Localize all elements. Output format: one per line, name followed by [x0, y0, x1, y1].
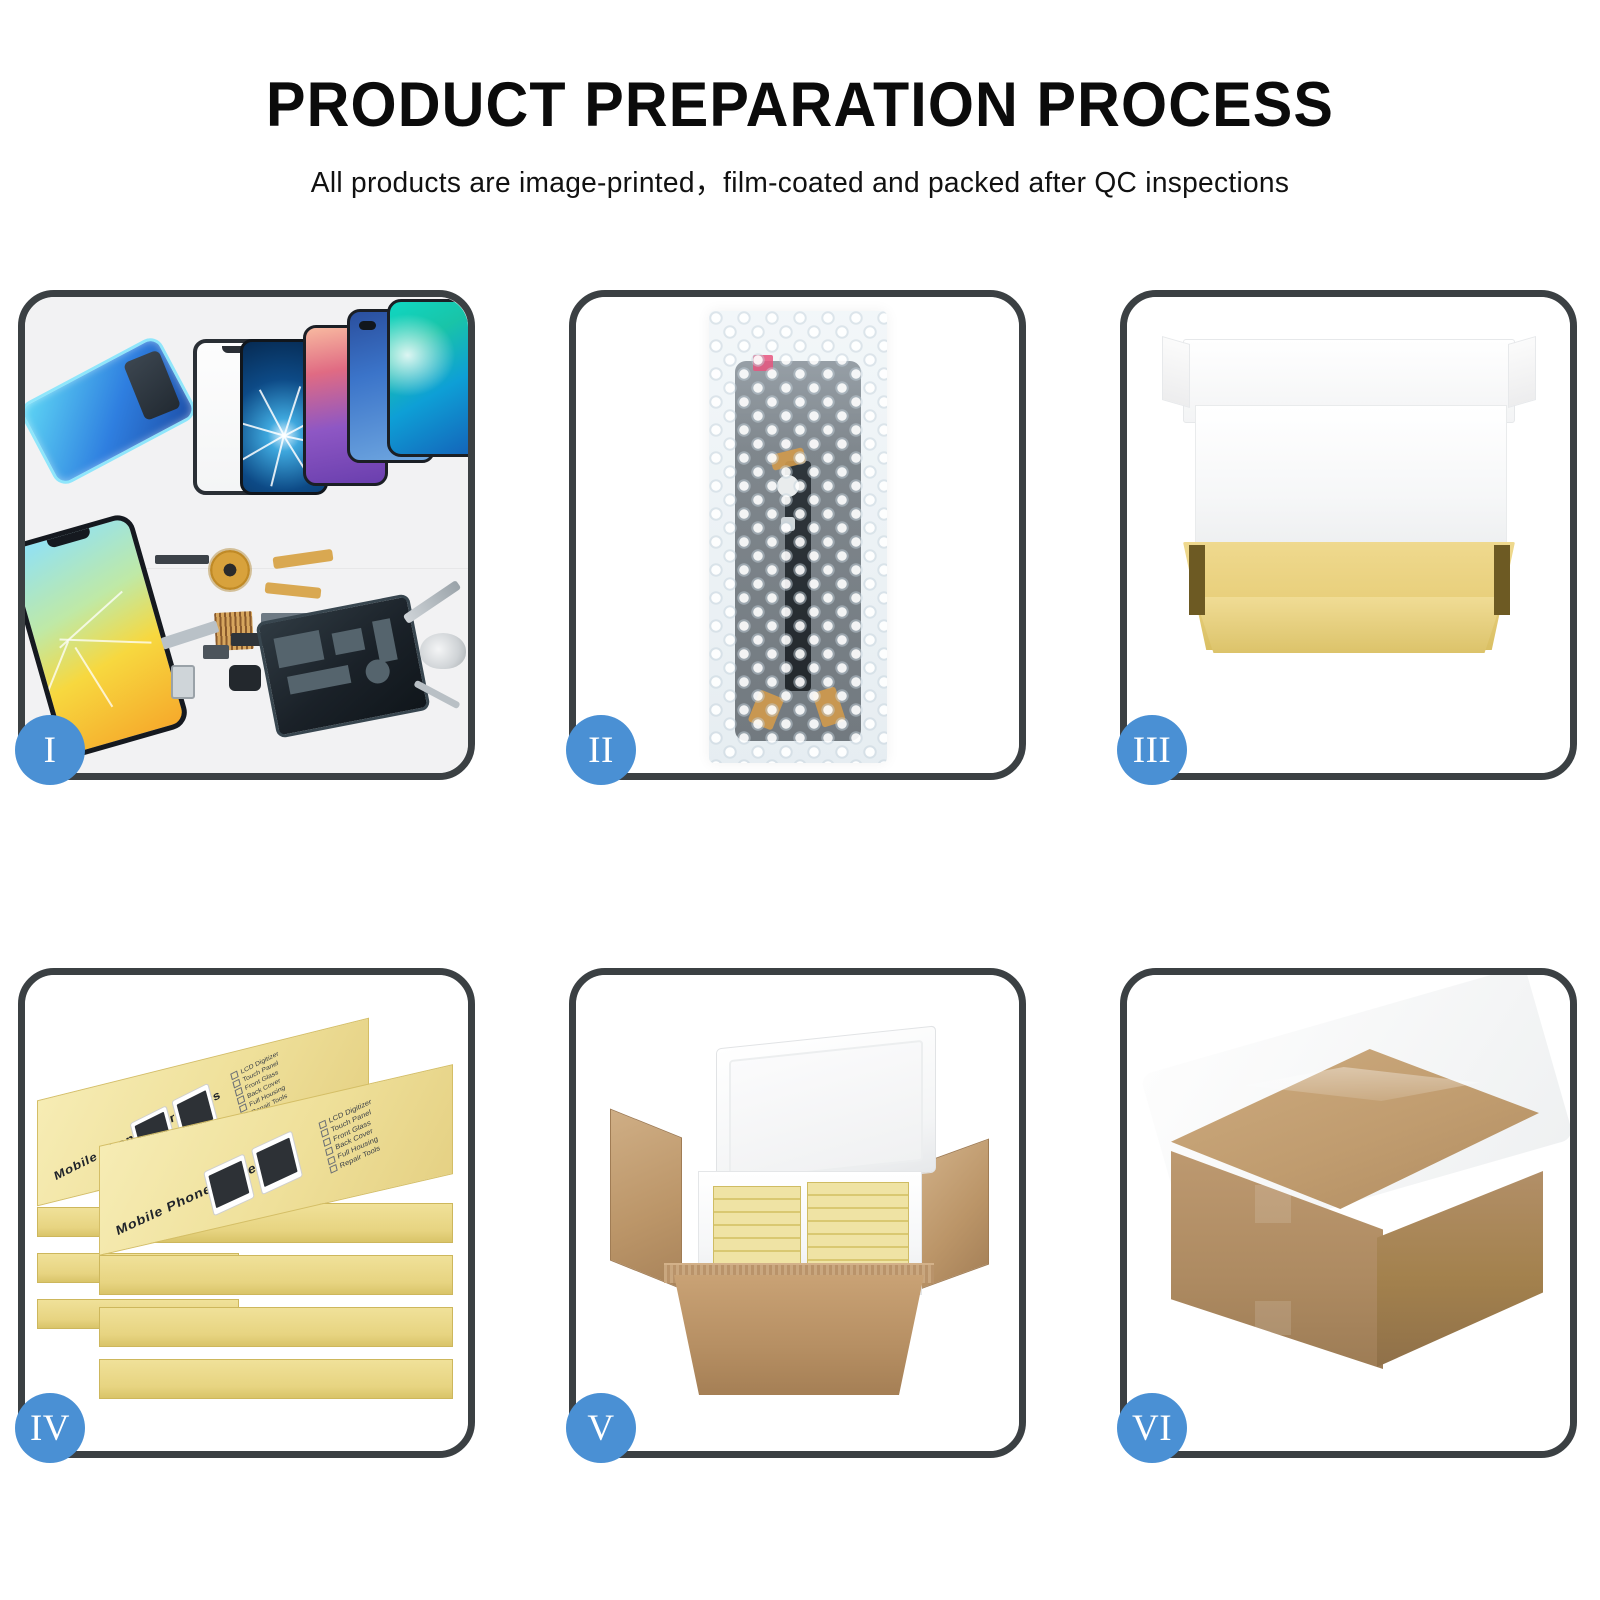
step-panel-1[interactable]: I	[18, 290, 475, 780]
step-6-image	[1127, 975, 1570, 1451]
retail-box-checklist-front: LCD Digitizer Touch Panel Front Glass Ba…	[318, 1097, 383, 1175]
sim-tray	[171, 665, 195, 699]
step-1-image	[25, 297, 468, 773]
step-panel-2[interactable]: II	[569, 290, 1026, 780]
earpiece-mesh	[155, 555, 209, 564]
process-steps-grid: I II	[18, 290, 1578, 1458]
step-badge-2: II	[566, 715, 636, 785]
battery-connector	[203, 645, 229, 659]
step-badge-6: VI	[1117, 1393, 1187, 1463]
step-panel-4[interactable]: Mobile Phone Spare Parts LCD Digitizer T…	[18, 968, 475, 1458]
box-corner-left	[1189, 545, 1205, 615]
step-badge-1: I	[15, 715, 85, 785]
page-header: PRODUCT PREPARATION PROCESS All products…	[0, 0, 1600, 201]
retail-box-front-2	[99, 1307, 453, 1347]
cleaning-brush	[420, 633, 466, 669]
step-5-image	[576, 975, 1019, 1451]
wireless-charging-coil	[210, 550, 250, 590]
retail-box-front-1	[99, 1359, 453, 1399]
bubble-wrap-pouch	[709, 311, 887, 763]
page-title: PRODUCT PREPARATION PROCESS	[48, 74, 1552, 137]
white-foam-sheet	[1195, 405, 1507, 557]
step-badge-3: III	[1117, 715, 1187, 785]
step-panel-3[interactable]: III	[1120, 290, 1577, 780]
step-2-image	[576, 297, 1019, 773]
teal-swirl-phone	[387, 299, 468, 457]
page-subtitle: All products are image-printed，film-coat…	[24, 159, 1576, 201]
step-badge-5: V	[566, 1393, 636, 1463]
step-panel-5[interactable]: V	[569, 968, 1026, 1458]
step-panel-6[interactable]: VI	[1120, 968, 1577, 1458]
retail-box-front-3	[99, 1255, 453, 1295]
step-4-image: Mobile Phone Spare Parts LCD Digitizer T…	[25, 975, 468, 1451]
kraft-box-front	[1195, 597, 1503, 653]
step-3-image	[1127, 297, 1570, 773]
step-badge-4: IV	[15, 1393, 85, 1463]
carton-body	[674, 1275, 924, 1395]
box-corner-right	[1494, 545, 1510, 615]
camera-module	[229, 665, 261, 691]
